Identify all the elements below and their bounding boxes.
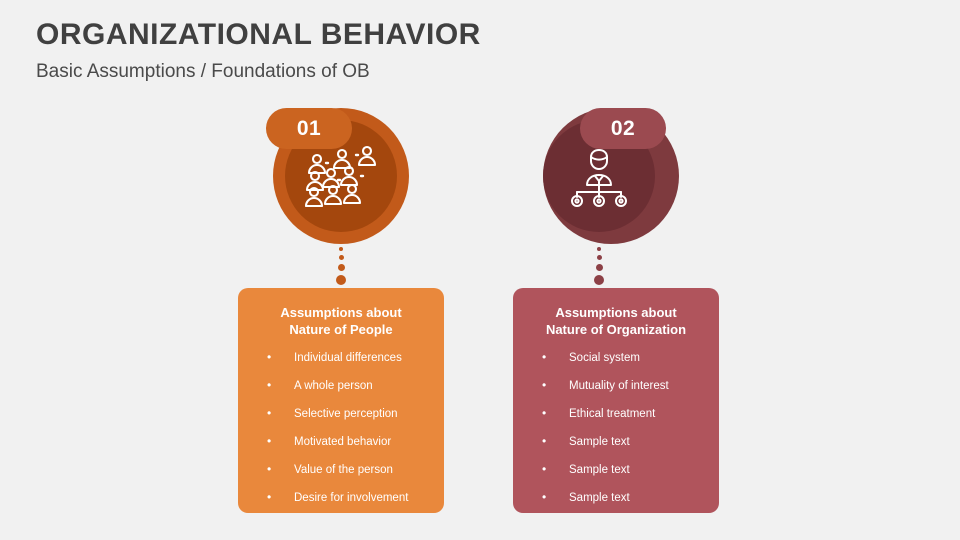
list-item: Motivated behavior <box>252 436 434 449</box>
card-title-line-1: Assumptions about <box>248 304 434 321</box>
list-item: Ethical treatment <box>527 408 709 421</box>
connector-dot <box>596 264 603 271</box>
step-badge-01[interactable]: 01 <box>266 108 352 149</box>
connector-dot <box>338 264 345 271</box>
card-title-line-1: Assumptions about <box>523 304 709 321</box>
card-nature-of-people[interactable]: Assumptions about Nature of People Indiv… <box>238 288 444 513</box>
card-title-2: Assumptions about Nature of Organization <box>523 304 709 338</box>
column-organization: 02 Assumptions about Nature of Organizat… <box>467 0 767 540</box>
card-title-line-2: Nature of People <box>248 321 434 338</box>
list-item: Desire for involvement <box>252 492 434 505</box>
list-item: A whole person <box>252 380 434 393</box>
card-title-line-2: Nature of Organization <box>523 321 709 338</box>
connector-dot <box>597 247 601 251</box>
card-title-1: Assumptions about Nature of People <box>248 304 434 338</box>
list-item: Sample text <box>527 436 709 449</box>
list-item: Sample text <box>527 492 709 505</box>
bullet-list-2: Social system Mutuality of interest Ethi… <box>523 352 709 505</box>
slide-canvas: ORGANIZATIONAL BEHAVIOR Basic Assumption… <box>0 0 960 540</box>
connector-dot <box>336 275 346 285</box>
list-item: Sample text <box>527 464 709 477</box>
list-item: Value of the person <box>252 464 434 477</box>
step-badge-02-label: 02 <box>611 117 635 141</box>
connector-dot <box>339 255 344 260</box>
connector-dot <box>339 247 343 251</box>
list-item: Social system <box>527 352 709 365</box>
card-nature-of-organization[interactable]: Assumptions about Nature of Organization… <box>513 288 719 513</box>
bullet-list-1: Individual differences A whole person Se… <box>248 352 434 505</box>
list-item: Individual differences <box>252 352 434 365</box>
connector-dot <box>594 275 604 285</box>
list-item: Selective perception <box>252 408 434 421</box>
list-item: Mutuality of interest <box>527 380 709 393</box>
step-badge-02[interactable]: 02 <box>580 108 666 149</box>
connector-dot <box>597 255 602 260</box>
column-people: 01 Assumptions about Nature of People In… <box>190 0 490 540</box>
step-badge-01-label: 01 <box>297 117 321 141</box>
